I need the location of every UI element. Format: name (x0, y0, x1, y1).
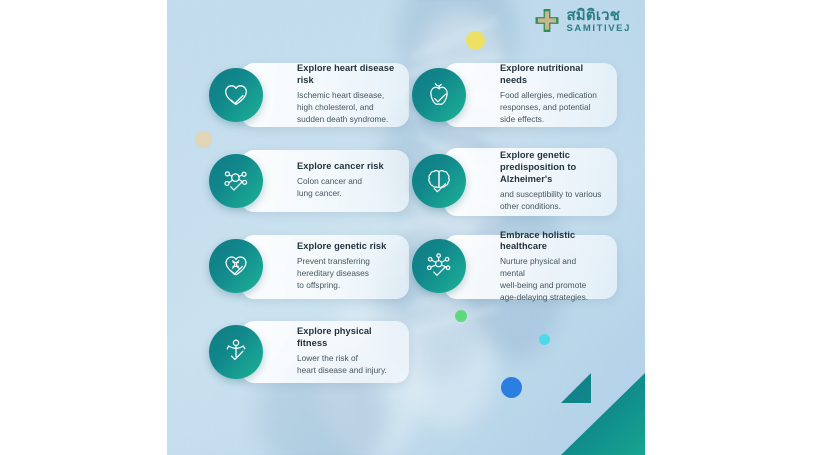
card-description: Lower the risk of heart disease and inju… (297, 353, 395, 377)
card-cancer-risk[interactable]: Explore cancer risk Colon cancer and lun… (241, 150, 409, 212)
card-nutritional-needs[interactable]: Explore nutritional needs Food allergies… (444, 63, 617, 127)
corner-fold-decoration (561, 373, 645, 455)
card-alzheimers-predisposition[interactable]: Explore genetic predisposition to Alzhei… (444, 148, 617, 216)
card-title: Explore genetic risk (297, 241, 386, 253)
card-icon-molecule-check (209, 154, 263, 208)
logo-thai-name: สมิติเวช (566, 8, 631, 23)
card-title: Embrace holistic healthcare (500, 230, 603, 254)
card-description: Food allergies, medication responses, an… (500, 90, 603, 125)
card-description: Ischemic heart disease, high cholesterol… (297, 90, 395, 125)
card-description: Colon cancer and lung cancer. (297, 176, 384, 200)
card-icon-heart-dna-check (209, 239, 263, 293)
card-description: and susceptibility to various other cond… (500, 189, 603, 213)
card-icon-network-hub-check (412, 239, 466, 293)
blue-dot (501, 377, 522, 398)
card-description: Nurture physical and mental well-being a… (500, 256, 603, 303)
card-description: Prevent transferring hereditary diseases… (297, 256, 386, 291)
card-title: Explore genetic predisposition to Alzhei… (500, 150, 603, 186)
card-heart-disease-risk[interactable]: Explore heart disease risk Ischemic hear… (241, 63, 409, 127)
infographic-poster: สมิติเวช SAMITIVEJ Explore heart disease… (167, 0, 645, 455)
card-icon-heart-check (209, 68, 263, 122)
card-genetic-risk[interactable]: Explore genetic risk Prevent transferrin… (241, 235, 409, 299)
beige-dot (195, 131, 212, 148)
card-holistic-healthcare[interactable]: Embrace holistic healthcare Nurture phys… (444, 235, 617, 299)
card-title: Explore heart disease risk (297, 63, 395, 87)
cyan-dot (539, 334, 550, 345)
green-dot (455, 310, 467, 322)
card-icon-brain-check (412, 154, 466, 208)
screenshot-canvas: สมิติเวช SAMITIVEJ Explore heart disease… (0, 0, 815, 455)
card-physical-fitness[interactable]: Explore physical fitness Lower the risk … (241, 321, 409, 383)
medical-cross-icon (534, 8, 560, 34)
samitivej-logo: สมิติเวช SAMITIVEJ (534, 8, 631, 34)
yellow-dot (466, 31, 485, 50)
card-title: Explore physical fitness (297, 326, 395, 350)
card-title: Explore nutritional needs (500, 63, 603, 87)
card-title: Explore cancer risk (297, 161, 384, 173)
logo-latin-name: SAMITIVEJ (566, 24, 631, 34)
card-icon-person-fitness-check (209, 325, 263, 379)
card-icon-apple-check (412, 68, 466, 122)
